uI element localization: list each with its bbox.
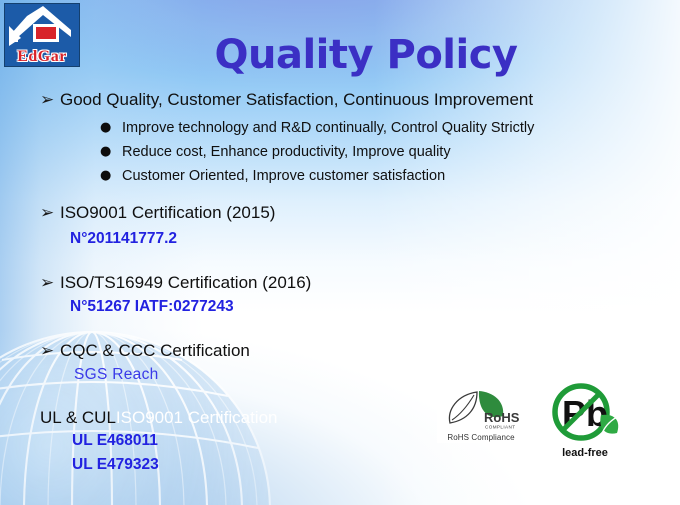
bullet-cqc-ccc[interactable]: ➢ CQC & CCC Certification <box>40 341 250 361</box>
bullet-label: ISO9001 Certification (2015) <box>60 203 275 223</box>
dot-bullet-icon: ● <box>100 142 122 162</box>
rohs-compliance-badge: RoHS COMPLIANT RoHS Compliance <box>437 387 525 443</box>
rohs-mark-sub: COMPLIANT <box>485 425 515 430</box>
lead-free-badge: Pb lead-free <box>541 381 629 459</box>
dot-bullet-icon: ● <box>100 118 122 138</box>
arrow-bullet-icon: ➢ <box>40 341 60 361</box>
cqc-cert-labels: SGS Reach <box>74 365 159 384</box>
bullet-iso-ts16949[interactable]: ➢ ISO/TS16949 Certification (2016) <box>40 273 311 293</box>
dot-bullet-icon: ● <box>100 166 122 186</box>
sub-bullet-label: Improve technology and R&D continually, … <box>122 118 534 138</box>
cert-number-label: SGS Reach <box>74 365 159 384</box>
lead-symbol-text: Pb <box>562 393 608 434</box>
lead-free-pb-icon: Pb <box>541 381 629 447</box>
bullet-iso9001[interactable]: ➢ ISO9001 Certification (2015) <box>40 203 275 223</box>
bullet-label: Good Quality, Customer Satisfaction, Con… <box>60 90 533 110</box>
arrow-bullet-icon: ➢ <box>40 273 60 293</box>
sub-bullet-label: Reduce cost, Enhance productivity, Impro… <box>122 142 451 162</box>
lead-free-caption: lead-free <box>541 447 629 459</box>
cert-number-label: N°51267 IATF:0277243 <box>70 297 234 316</box>
bullet-good-quality[interactable]: ➢ Good Quality, Customer Satisfaction, C… <box>40 90 533 110</box>
cert-number-label: N°201141777.2 <box>70 229 177 248</box>
bullet-label: CQC & CCC Certification <box>60 341 250 361</box>
rohs-caption: RoHS Compliance <box>437 433 525 442</box>
ul-file-label: UL E479323 <box>72 455 159 474</box>
ul-file-number-2: UL E479323 <box>72 455 159 474</box>
arrow-bullet-icon: ➢ <box>40 203 60 223</box>
bullet-label: ISO/TS16949 Certification (2016) <box>60 273 311 293</box>
ul-file-number-1: UL E468011 <box>72 431 158 450</box>
iatf-cert-number: N°51267 IATF:0277243 <box>70 297 234 316</box>
ul-cul-label: UL & CUL <box>40 408 116 428</box>
rohs-leaf-icon: RoHS COMPLIANT <box>437 387 525 433</box>
rohs-mark-text: RoHS <box>484 410 520 425</box>
sub-bullet-label: Customer Oriented, Improve customer sati… <box>122 166 445 186</box>
ul-cul-ghost-label: ISO9001 Certification <box>116 408 278 428</box>
sub-bullet-reduce-cost[interactable]: ● Reduce cost, Enhance productivity, Imp… <box>100 142 451 162</box>
slide-canvas: EdGar Quality Policy ➢ Good Quality, Cus… <box>0 0 680 505</box>
ul-cul-heading: UL & CUL ISO9001 Certification <box>40 408 278 428</box>
sub-bullet-customer-oriented[interactable]: ● Customer Oriented, Improve customer sa… <box>100 166 445 186</box>
iso9001-cert-number: N°201141777.2 <box>70 229 177 248</box>
arrow-bullet-icon: ➢ <box>40 90 60 110</box>
sub-bullet-improve-technology[interactable]: ● Improve technology and R&D continually… <box>100 118 534 138</box>
ul-file-label: UL E468011 <box>72 431 158 450</box>
